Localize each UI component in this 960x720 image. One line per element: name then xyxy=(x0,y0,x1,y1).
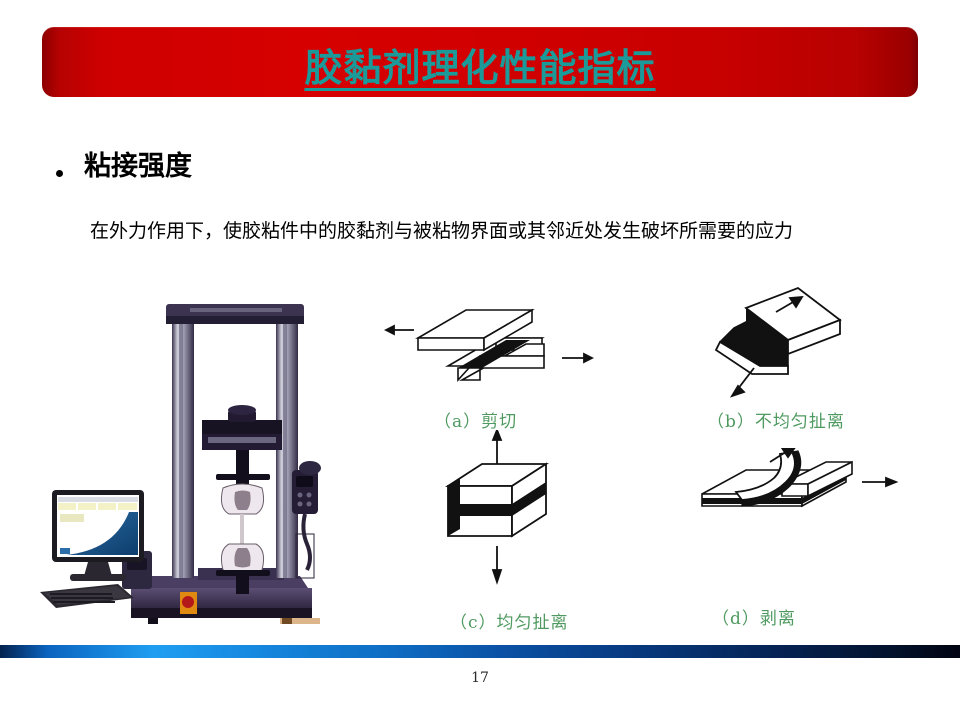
bond-strength-diagrams: （a）剪切 xyxy=(0,0,960,720)
caption-shear: （a）剪切 xyxy=(434,407,517,432)
caption-uneven-cleavage: （b）不均匀扯离 xyxy=(707,407,845,432)
footer-divider-bar xyxy=(0,645,960,658)
diagram-peel xyxy=(676,448,936,568)
arrow-down xyxy=(493,546,501,582)
caption-peel: （d）剥离 xyxy=(712,604,796,629)
arrow-up xyxy=(493,430,501,466)
diagram-shear xyxy=(380,288,680,398)
diagram-shear-svg xyxy=(380,288,680,398)
caption-uniform-tension: （c）均匀扯离 xyxy=(450,608,569,633)
page-number: 17 xyxy=(0,670,960,686)
arrow-peel-right xyxy=(862,478,896,486)
diagram-peel-svg xyxy=(676,448,936,568)
diagram-uniform-tension-svg xyxy=(430,430,630,600)
diagram-uneven-cleavage-svg xyxy=(690,282,920,402)
diagram-uniform-tension xyxy=(430,430,630,600)
arrow-right xyxy=(562,354,592,362)
diagram-uneven-cleavage xyxy=(690,282,920,402)
arrow-left xyxy=(386,326,414,334)
arrow-lower-left xyxy=(732,368,754,396)
